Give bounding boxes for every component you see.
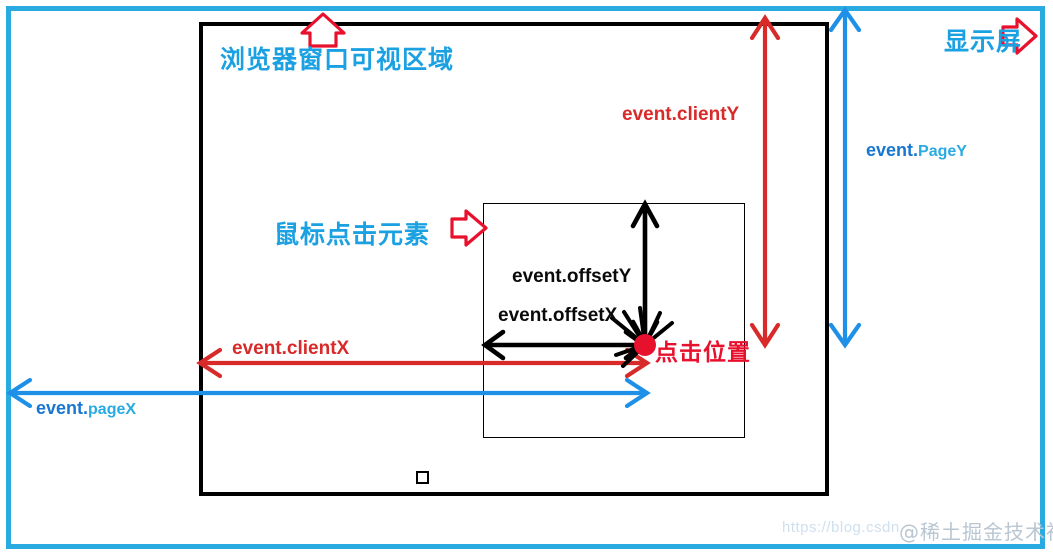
pageX-label: event.pageX <box>36 398 136 419</box>
small-square-marker <box>416 471 429 484</box>
watermark-url: https://blog.csdn. <box>782 519 904 536</box>
pageY-label-suffix: PageY <box>918 143 967 160</box>
viewport-label: 浏览器窗口可视区域 <box>220 40 454 76</box>
pageX-label-prefix: event. <box>36 398 88 418</box>
offsetX-label: event.offsetX <box>498 305 617 327</box>
screen-label: 显示屏 <box>944 22 1022 58</box>
pageX-label-suffix: pageX <box>88 401 136 418</box>
clientY-label: event.clientY <box>622 104 739 126</box>
clientX-label: event.clientX <box>232 338 349 360</box>
offsetY-label: event.offsetY <box>512 266 631 288</box>
pageY-label: event.PageY <box>866 140 967 161</box>
click-point-label: 点击位置 <box>655 333 751 367</box>
pageY-label-prefix: event. <box>866 140 918 160</box>
diagram-canvas: 浏览器窗口可视区域 显示屏 鼠标点击元素 event.clientY event… <box>0 0 1053 557</box>
element-label: 鼠标点击元素 <box>274 215 430 251</box>
watermark-brand: @稀土掘金技术社区 <box>899 516 1053 545</box>
